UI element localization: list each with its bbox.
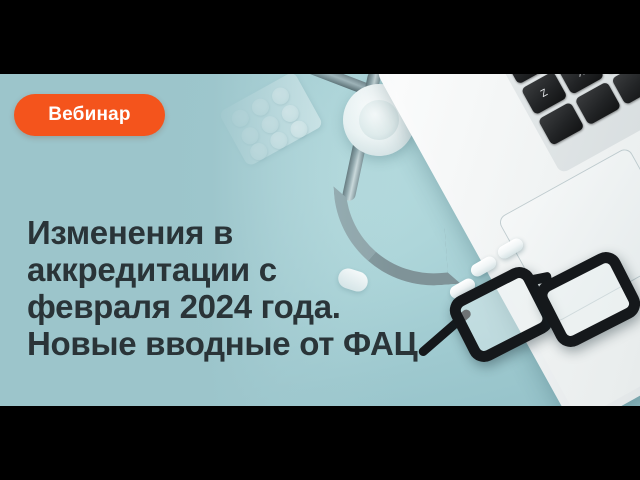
video-thumbnail-frame: Q W E R T Y U A S D F G H J Z X C V B N [0,0,640,480]
webinar-badge: Вебинар [14,94,165,136]
letterbox-bar-bottom [0,406,640,480]
page-title: Изменения в аккредитации с февраля 2024 … [27,214,547,362]
thumbnail-content: Вебинар Изменения в аккредитации с февра… [0,74,640,406]
letterbox-bar-top [0,0,640,74]
